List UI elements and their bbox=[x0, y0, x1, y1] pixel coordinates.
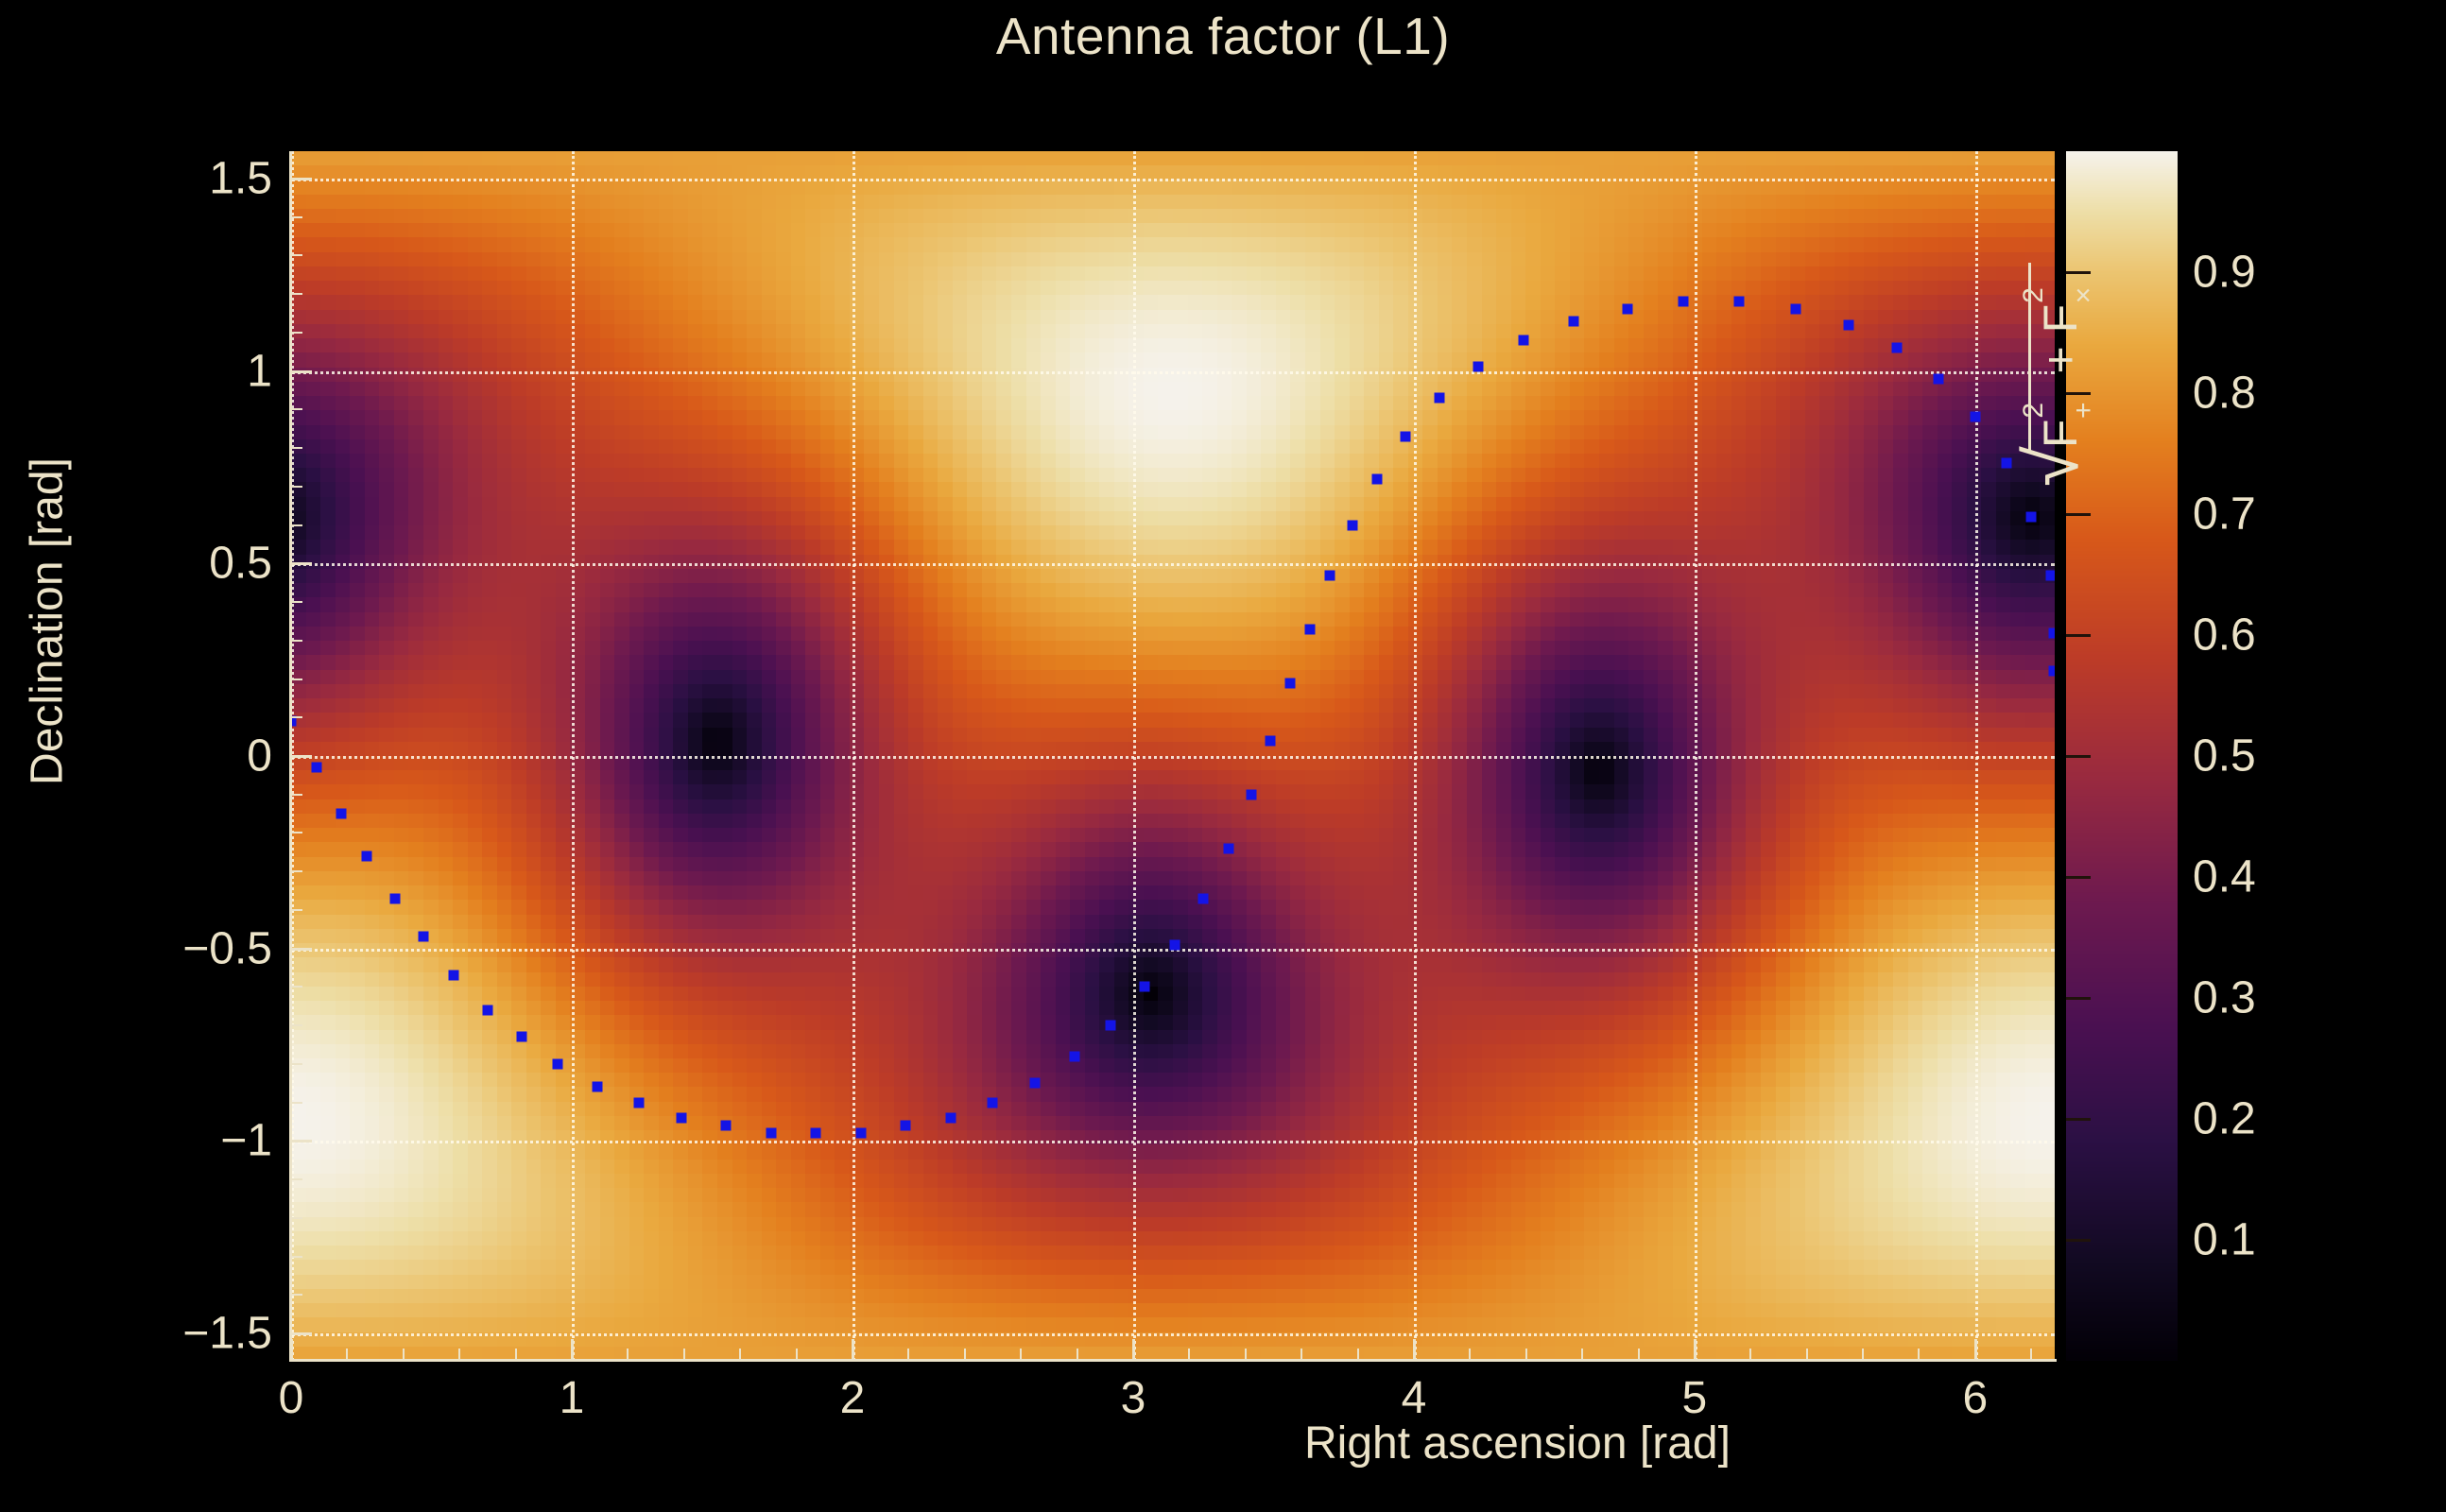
y-axis-tick bbox=[291, 1140, 312, 1143]
x-axis-minor-tick bbox=[403, 1349, 405, 1360]
x-axis-tick-label: 3 bbox=[1077, 1372, 1190, 1424]
x-axis-tick bbox=[571, 1339, 574, 1360]
x-axis-tick-label: 6 bbox=[1919, 1372, 2032, 1424]
x-axis-tick-label: 1 bbox=[515, 1372, 629, 1424]
y-axis-minor-tick bbox=[291, 1294, 302, 1296]
y-axis-tick bbox=[291, 562, 312, 565]
y-axis-minor-tick bbox=[291, 679, 302, 680]
y-axis-minor-tick bbox=[291, 986, 302, 988]
x-axis-tick-label: 2 bbox=[796, 1372, 909, 1424]
y-axis-tick-label: 1.5 bbox=[112, 152, 272, 204]
y-axis-title: Declination [rad] bbox=[22, 263, 74, 981]
x-axis-minor-tick bbox=[2030, 1349, 2032, 1360]
x-axis-minor-tick bbox=[458, 1349, 460, 1360]
y-axis-tick-label: −1.5 bbox=[112, 1308, 272, 1360]
x-axis-minor-tick bbox=[1188, 1349, 1190, 1360]
x-axis-minor-tick bbox=[964, 1349, 966, 1360]
y-axis-tick bbox=[291, 370, 312, 373]
y-axis-tick bbox=[291, 755, 312, 758]
y-axis-minor-tick bbox=[291, 293, 302, 295]
x-axis-minor-tick bbox=[1862, 1349, 1864, 1360]
x-axis-minor-tick bbox=[346, 1349, 348, 1360]
y-axis-minor-tick bbox=[291, 1256, 302, 1258]
x-axis-tick bbox=[1132, 1339, 1135, 1360]
y-axis-minor-tick bbox=[291, 216, 302, 218]
x-axis-tick bbox=[290, 1339, 293, 1360]
x-axis-minor-tick bbox=[1806, 1349, 1808, 1360]
colorbar-tick-label: 0.6 bbox=[2193, 610, 2256, 661]
y-axis-minor-tick bbox=[291, 716, 302, 718]
heatmap-canvas bbox=[291, 151, 2055, 1361]
colorbar-tick-label: 0.2 bbox=[2193, 1093, 2256, 1145]
colorbar-tick-label: 0.4 bbox=[2193, 851, 2256, 903]
colorbar[interactable] bbox=[2066, 151, 2178, 1361]
y-axis-tick-label: 0.5 bbox=[112, 538, 272, 590]
y-axis-tick bbox=[291, 178, 312, 180]
heatmap-plot-area[interactable] bbox=[291, 151, 2055, 1361]
y-axis-minor-tick bbox=[291, 640, 302, 642]
x-axis-minor-tick bbox=[515, 1349, 517, 1360]
x-axis-minor-tick bbox=[1020, 1349, 1022, 1360]
colorbar-tick-label: 0.1 bbox=[2193, 1214, 2256, 1266]
x-axis-minor-tick bbox=[796, 1349, 798, 1360]
colorbar-tick-label: 0.5 bbox=[2193, 730, 2256, 782]
x-axis-tick-label: 0 bbox=[234, 1372, 348, 1424]
x-axis-minor-tick bbox=[1525, 1349, 1527, 1360]
x-axis-tick-label: 4 bbox=[1357, 1372, 1471, 1424]
y-axis-tick-label: −1 bbox=[112, 1115, 272, 1167]
y-axis-minor-tick bbox=[291, 1217, 302, 1219]
y-axis-minor-tick bbox=[291, 524, 302, 526]
y-axis-minor-tick bbox=[291, 1063, 302, 1065]
y-axis-tick-label: 0 bbox=[112, 730, 272, 782]
y-axis-minor-tick bbox=[291, 1178, 302, 1180]
y-axis-minor-tick bbox=[291, 909, 302, 911]
x-axis-tick bbox=[1694, 1339, 1697, 1360]
x-axis-minor-tick bbox=[683, 1349, 685, 1360]
colorbar-canvas bbox=[2066, 151, 2178, 1361]
x-axis-minor-tick bbox=[1077, 1349, 1078, 1360]
x-axis-tick bbox=[1974, 1339, 1977, 1360]
page-title: Antenna factor (L1) bbox=[0, 6, 2446, 66]
x-axis-minor-tick bbox=[1581, 1349, 1583, 1360]
x-axis-minor-tick bbox=[1245, 1349, 1247, 1360]
x-axis-tick bbox=[852, 1339, 854, 1360]
colorbar-tick-label: 0.7 bbox=[2193, 489, 2256, 541]
y-axis-minor-tick bbox=[291, 870, 302, 872]
x-axis-tick bbox=[1413, 1339, 1416, 1360]
y-axis-minor-tick bbox=[291, 332, 302, 334]
y-axis-minor-tick bbox=[291, 794, 302, 796]
x-axis-minor-tick bbox=[907, 1349, 909, 1360]
root-canvas: Antenna factor (L1) 1.510.50−0.5−1−1.501… bbox=[0, 0, 2446, 1512]
y-axis-minor-tick bbox=[291, 1102, 302, 1104]
y-axis-tick-label: 1 bbox=[112, 345, 272, 397]
y-axis-tick-label: −0.5 bbox=[112, 922, 272, 974]
heatmap-image bbox=[291, 151, 2055, 1361]
y-axis-minor-tick bbox=[291, 832, 302, 833]
y-axis-minor-tick bbox=[291, 447, 302, 449]
x-axis-minor-tick bbox=[1918, 1349, 1920, 1360]
y-axis-minor-tick bbox=[291, 486, 302, 488]
y-axis-minor-tick bbox=[291, 601, 302, 603]
y-axis-tick bbox=[291, 1332, 312, 1335]
x-axis-line bbox=[289, 1359, 2057, 1362]
x-axis-title: Right ascension [rad] bbox=[1304, 1417, 2041, 1469]
y-axis-tick bbox=[291, 948, 312, 951]
colorbar-tick-label: 0.3 bbox=[2193, 972, 2256, 1024]
colorbar-tick-label: 0.9 bbox=[2193, 247, 2256, 299]
x-axis-minor-tick bbox=[1357, 1349, 1359, 1360]
y-axis-minor-tick bbox=[291, 1024, 302, 1026]
x-axis-minor-tick bbox=[1469, 1349, 1471, 1360]
x-axis-minor-tick bbox=[739, 1349, 741, 1360]
x-axis-minor-tick bbox=[1749, 1349, 1751, 1360]
colorbar-tick-label: 0.8 bbox=[2193, 368, 2256, 420]
x-axis-minor-tick bbox=[1301, 1349, 1302, 1360]
x-axis-tick-label: 5 bbox=[1638, 1372, 1751, 1424]
y-axis-minor-tick bbox=[291, 408, 302, 410]
x-axis-minor-tick bbox=[1638, 1349, 1640, 1360]
x-axis-minor-tick bbox=[627, 1349, 629, 1360]
y-axis-minor-tick bbox=[291, 254, 302, 256]
